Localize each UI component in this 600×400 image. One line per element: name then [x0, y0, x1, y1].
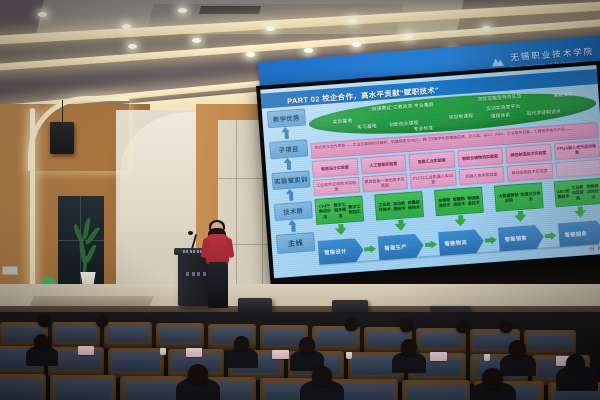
- lab-name-top-1: 人工智能实验室: [360, 154, 407, 174]
- level-label-0: 教学优势: [267, 108, 306, 128]
- tech-box-1: 工业软件技术自动检测技术质量控制技术: [374, 191, 424, 220]
- ellipse-item-5: 项目制课程: [449, 113, 474, 121]
- auditorium-scene: 无锡职业技术学院 Wuxi Institute of Technology PA…: [0, 0, 600, 400]
- lab-name-top-0: 智能设计实验室: [312, 158, 359, 178]
- level-label-3: 技术群: [274, 201, 313, 221]
- lab-name-top-4: 绿色制造技术实验室: [505, 144, 552, 164]
- lab-name-top-3: 智能仓储物流实验室: [457, 147, 504, 167]
- slide-level-column: 教学优势 子项目 实验室实训 技术群 主线: [267, 109, 315, 279]
- up-arrow-icon-3: [288, 219, 298, 232]
- up-arrow-icon-0: [281, 127, 291, 140]
- slide-footer-logo: H M: [590, 246, 600, 253]
- flow-connector-icon-3: [545, 231, 559, 241]
- lab-column-5: FPGA嵌入式作品实验室: [554, 140, 600, 178]
- wall-speaker-icon: [50, 122, 74, 154]
- ellipse-item-8: 课程体系: [491, 112, 511, 119]
- ellipse-item-3: 实习基地: [357, 123, 377, 130]
- tech-box-4: ABC统筹技术工业移动互联网物联网应用技术: [554, 178, 600, 207]
- potted-plant: [70, 218, 106, 276]
- presenter-lower-body: [208, 262, 228, 308]
- tech-box-0: CAPP集成应用数字工程多模态数字工程加工: [314, 196, 364, 225]
- projection-screen-frame: PART 02 校企合作，高水平贡献“赋职技术” 教学优势 子项目 实验室实训 …: [256, 61, 600, 286]
- ellipse-item-1: 双师双能型师资队伍: [477, 94, 521, 103]
- lab-name-top-2: 智能工业实验室: [408, 151, 455, 171]
- level-label-4: 主线: [276, 232, 315, 254]
- lab-column-1: 人工智能实验室 模具智能一体化技术实验室: [360, 154, 408, 192]
- presentation-slide[interactable]: PART 02 校企合作，高水平贡献“赋职技术” 教学优势 子项目 实验室实训 …: [260, 65, 600, 278]
- presenter-figure: [205, 222, 231, 308]
- lab-column-2: 智能工业实验室 PLC与工业机器人实训室: [408, 151, 456, 189]
- flow-connector-icon-2: [484, 235, 498, 245]
- level-label-2: 实验室实训: [271, 170, 310, 190]
- lab-name-bottom-1: 模具智能一体化技术实验室: [361, 173, 408, 192]
- lab-name-top-5: FPGA嵌入式作品实验室: [554, 140, 600, 160]
- lab-column-4: 绿色制造技术实验室 移动应用技术实验室: [505, 144, 553, 182]
- lab-column-0: 智能设计实验室 工业软件应用技术实验室: [312, 158, 360, 196]
- ellipse-item-0: “岗课赛证”三教改革 专业集群: [370, 102, 434, 113]
- audience-seating-area: [0, 312, 600, 400]
- down-arrow-icon-3: [513, 211, 527, 223]
- lab-column-3: 智能仓储物流实验室 机器人技术实验室: [457, 147, 505, 185]
- speaker-cable: [62, 100, 63, 124]
- podium-emblem: [186, 272, 206, 276]
- tech-box-3: 大数据营销应用快速交付体系: [494, 182, 544, 211]
- ceiling-vent: [199, 6, 261, 14]
- up-arrow-icon-1: [283, 158, 293, 171]
- ellipse-item-9: 现代学徒制试点: [527, 109, 562, 117]
- microphone-icon: [188, 231, 193, 235]
- flow-connector-icon-0: [364, 244, 378, 254]
- lab-name-bottom-4: 移动应用技术实验室: [507, 162, 554, 181]
- ellipse-item-7: 实训实验室平台: [486, 104, 521, 112]
- stage-monitor-0: [238, 298, 272, 313]
- lab-name-bottom-2: PLC与工业机器人实训室: [410, 170, 457, 189]
- down-arrow-icon-2: [454, 215, 468, 227]
- tech-box-2: 仓储物流技术智慧物流技术物流装备技术: [434, 187, 484, 216]
- lab-name-bottom-0: 工业软件应用技术实验室: [313, 177, 360, 196]
- flow-connector-icon-1: [424, 240, 438, 250]
- up-arrow-icon-2: [286, 188, 296, 201]
- lab-name-bottom-3: 机器人技术实验室: [458, 166, 505, 185]
- down-arrow-icon-1: [394, 219, 408, 231]
- down-arrow-icon-0: [334, 224, 348, 236]
- wall-outlet: [2, 266, 18, 275]
- ellipse-item-10: 专业标准: [413, 125, 433, 132]
- lab-name-bottom-5: [555, 159, 600, 178]
- down-arrow-icon-4: [573, 206, 587, 218]
- level-label-1: 子项目: [269, 139, 308, 159]
- ellipse-item-2: 实训基地: [333, 118, 353, 125]
- ellipse-item-6: 课程体系: [553, 92, 573, 99]
